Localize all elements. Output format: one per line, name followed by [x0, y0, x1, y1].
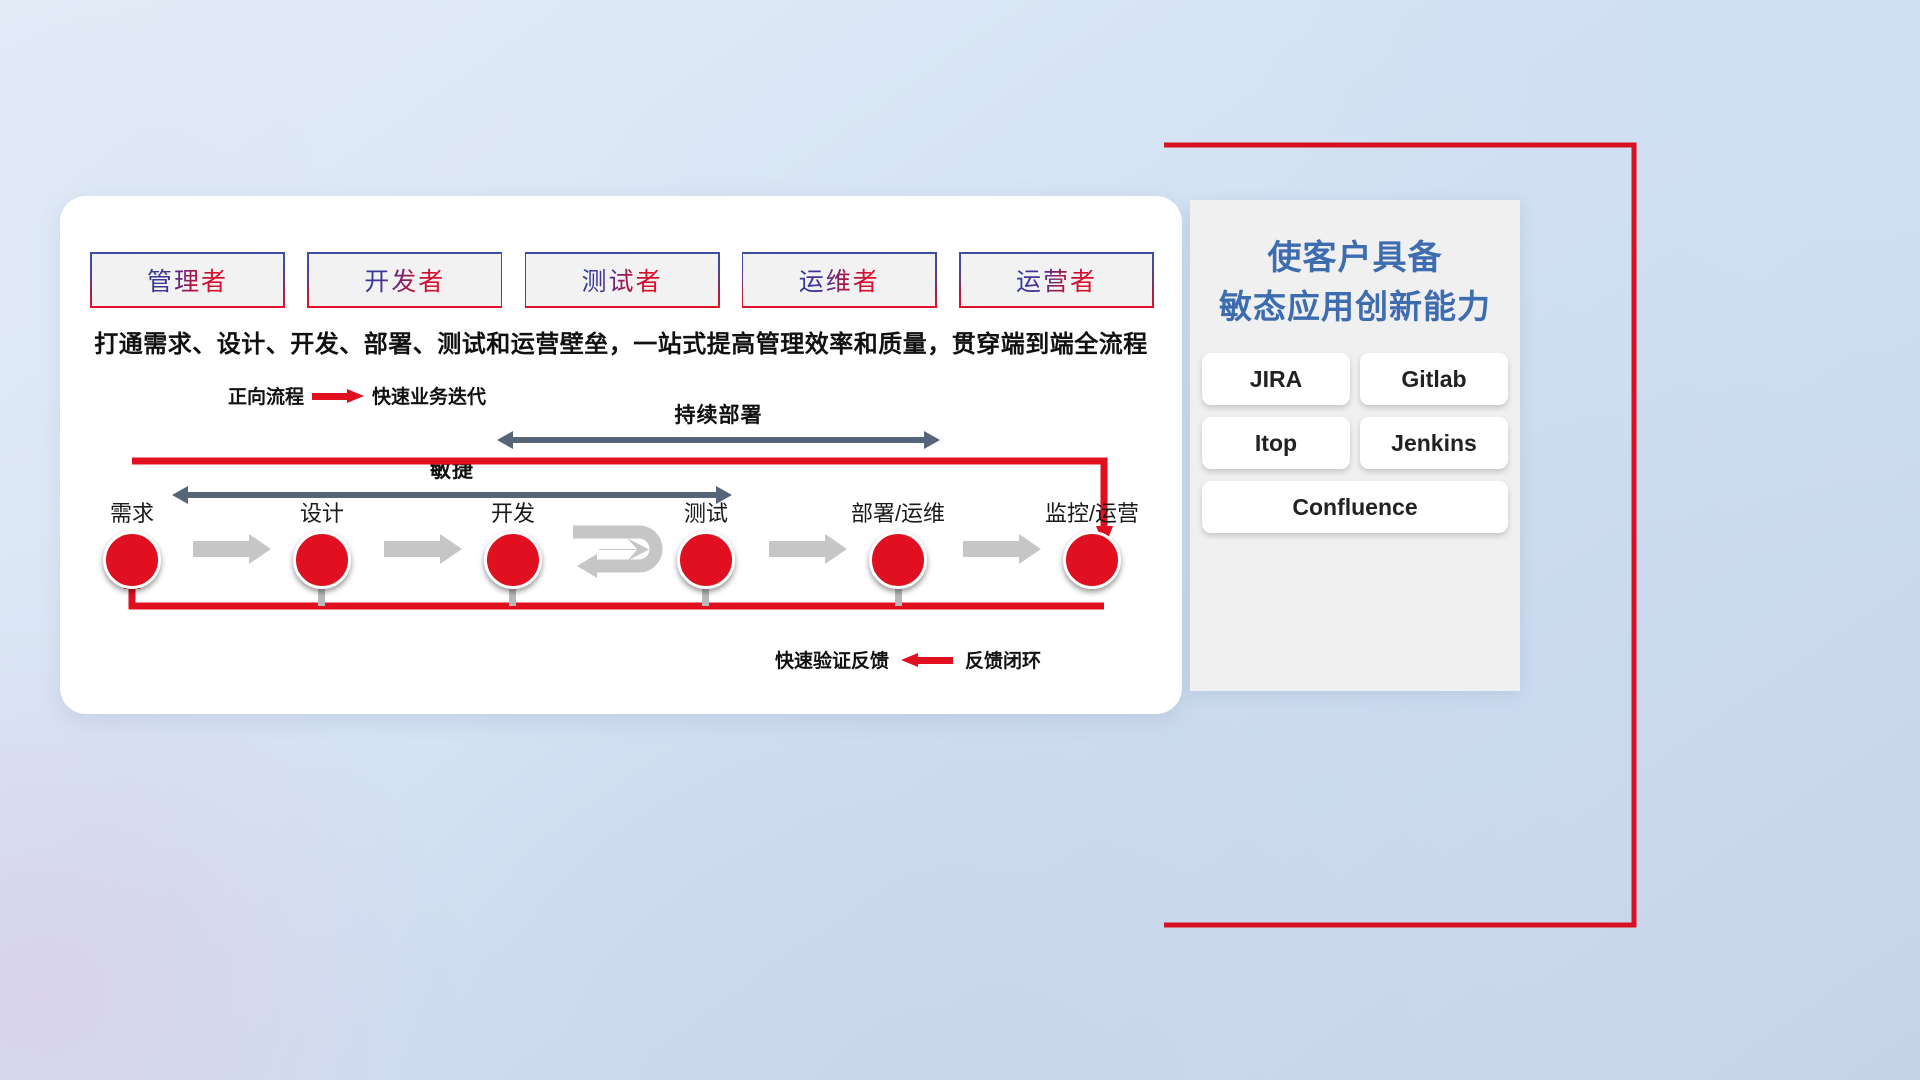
- pipeline-arrow-2-icon: [384, 534, 462, 564]
- pipeline-node-dot: [293, 531, 351, 589]
- pipeline-node-label: 开发: [453, 496, 573, 528]
- role-label: 测试者: [581, 262, 662, 298]
- span-label: 持续部署: [497, 399, 940, 429]
- role-box-manager[interactable]: 管理者: [90, 252, 285, 308]
- capability-panel: 使客户具备 敏态应用创新能力 JIRA Gitlab Itop Jenkins …: [1190, 200, 1520, 691]
- role-label: 开发者: [364, 262, 445, 298]
- tool-grid: JIRA Gitlab Itop Jenkins Confluence: [1198, 353, 1512, 533]
- pipeline-node-label: 需求: [72, 496, 192, 528]
- role-box-developer[interactable]: 开发者: [307, 252, 502, 308]
- pipeline-node-label: 设计: [262, 496, 382, 528]
- arrow-right-red-icon: [312, 389, 364, 403]
- pipeline-node-monitor-operations[interactable]: 监控/运营: [1032, 496, 1152, 589]
- tool-label: Confluence: [1292, 494, 1417, 521]
- panel-title-line1: 使客户具备: [1268, 239, 1443, 277]
- pipeline-node-design[interactable]: 设计: [262, 496, 382, 589]
- pipeline-arrow-5-icon: [963, 534, 1041, 564]
- pipeline-node-requirement[interactable]: 需求: [72, 496, 192, 589]
- role-box-tester[interactable]: 测试者: [525, 252, 720, 308]
- panel-title: 使客户具备 敏态应用创新能力: [1190, 200, 1520, 331]
- pipeline-node-label: 部署/运维: [838, 496, 958, 528]
- pipeline-node-dot: [869, 531, 927, 589]
- pipeline-node-dot: [1063, 531, 1121, 589]
- pipeline-node-develop[interactable]: 开发: [453, 496, 573, 589]
- forward-flow-annotation: 正向流程 快速业务迭代: [228, 382, 486, 409]
- feedback-right-label: 反馈闭环: [965, 646, 1041, 673]
- arrow-left-red-icon: [901, 653, 953, 667]
- pipeline-arrow-1-icon: [193, 534, 271, 564]
- forward-flow-left-label: 正向流程: [228, 382, 304, 409]
- pipeline: 需求 设计 开发 测试 部署/运维 监控/运营: [60, 496, 1182, 616]
- pipeline-node-dot: [103, 531, 161, 589]
- pipeline-node-label: 监控/运营: [1032, 496, 1152, 528]
- pipeline-node-deploy-ops[interactable]: 部署/运维: [838, 496, 958, 589]
- feedback-annotation: 快速验证反馈 反馈闭环: [775, 646, 1041, 673]
- tool-button-jenkins[interactable]: Jenkins: [1360, 417, 1508, 469]
- span-label: 敏捷: [172, 454, 732, 484]
- tool-button-jira[interactable]: JIRA: [1202, 353, 1350, 405]
- main-flow-card: 管理者 开发者 测试者 运维者 运营者 打通需求、设计、开发、部署、测试和运营壁…: [60, 196, 1182, 714]
- tool-label: JIRA: [1250, 366, 1302, 393]
- pipeline-loop-arrow-icon: [565, 520, 675, 582]
- pipeline-node-dot: [677, 531, 735, 589]
- tool-button-gitlab[interactable]: Gitlab: [1360, 353, 1508, 405]
- role-box-ops[interactable]: 运维者: [742, 252, 937, 308]
- role-box-row: 管理者 开发者 测试者 运维者 运营者: [90, 252, 1154, 308]
- panel-title-line2: 敏态应用创新能力: [1190, 283, 1520, 331]
- double-arrow-icon: [497, 431, 940, 449]
- card-description: 打通需求、设计、开发、部署、测试和运营壁垒，一站式提高管理效率和质量，贯穿端到端…: [60, 324, 1182, 359]
- tool-label: Jenkins: [1391, 430, 1477, 457]
- tool-label: Itop: [1255, 430, 1297, 457]
- role-box-operations[interactable]: 运营者: [959, 252, 1154, 308]
- role-label: 管理者: [147, 262, 228, 298]
- tool-button-confluence[interactable]: Confluence: [1202, 481, 1508, 533]
- forward-flow-right-label: 快速业务迭代: [372, 382, 486, 409]
- tool-button-itop[interactable]: Itop: [1202, 417, 1350, 469]
- feedback-left-label: 快速验证反馈: [775, 646, 889, 673]
- role-label: 运营者: [1016, 262, 1097, 298]
- span-continuous-deployment: 持续部署: [497, 399, 940, 449]
- role-label: 运维者: [799, 262, 880, 298]
- pipeline-arrow-4-icon: [769, 534, 847, 564]
- pipeline-node-dot: [484, 531, 542, 589]
- tool-label: Gitlab: [1401, 366, 1466, 393]
